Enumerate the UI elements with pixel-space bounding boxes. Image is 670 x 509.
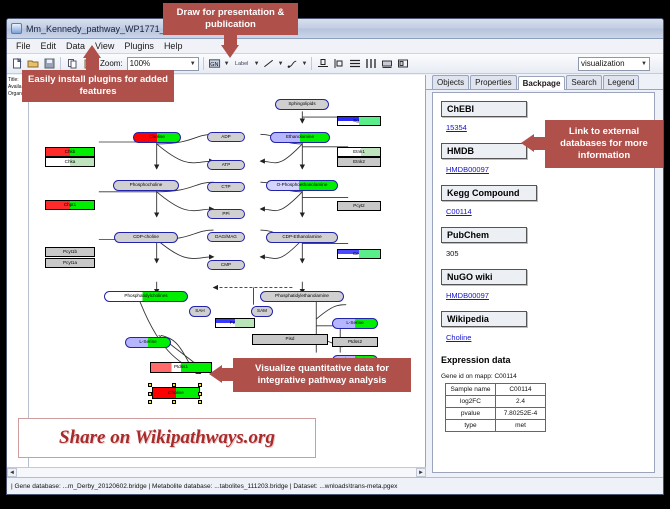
selection-handle-e[interactable] bbox=[198, 392, 202, 396]
pathway-node-pcyt1a[interactable]: Pcyt1a bbox=[45, 258, 95, 268]
scroll-left-icon[interactable]: ◄ bbox=[7, 468, 17, 477]
selection-handle-nw[interactable] bbox=[148, 383, 152, 387]
interaction-icon[interactable] bbox=[286, 57, 300, 71]
pathway-node-pemt-right-half bbox=[235, 318, 255, 328]
chevron-down-icon: ▼ bbox=[190, 61, 196, 67]
datanode-dropdown-icon[interactable]: ▼ bbox=[224, 61, 230, 67]
menu-help[interactable]: Help bbox=[159, 41, 188, 51]
table-row: pvalue 7.80252E-4 bbox=[446, 408, 546, 420]
chevron-down-icon-2: ▼ bbox=[641, 61, 647, 67]
datanode-icon[interactable]: GN bbox=[208, 57, 222, 71]
group-icon[interactable] bbox=[380, 57, 394, 71]
expr-key-type: type bbox=[446, 420, 496, 432]
pathway-node-pcyt1b[interactable]: Pcyt1b bbox=[45, 247, 95, 257]
node-label: Phosphatidylcholines bbox=[124, 294, 167, 299]
pathway-node-etnk1[interactable]: Etnk1 bbox=[337, 147, 381, 157]
interaction-dropdown-icon[interactable]: ▼ bbox=[302, 61, 308, 67]
pathway-node-pcyt2[interactable]: Pcyt2 bbox=[337, 201, 381, 211]
db-header-wikipedia: Wikipedia bbox=[441, 311, 527, 327]
db-link-hmdb[interactable]: HMDB00097 bbox=[446, 165, 489, 174]
scroll-right-icon[interactable]: ► bbox=[416, 468, 426, 477]
node-label: Phosphatidylethanolamine bbox=[275, 294, 329, 299]
ungroup-icon[interactable] bbox=[396, 57, 410, 71]
node-label: CDP-Ethanolamine bbox=[282, 235, 321, 240]
pathway-canvas[interactable]: Sphingolipids Choline Ethanolamine ADP A… bbox=[29, 75, 425, 477]
expr-value-type: met bbox=[496, 420, 546, 432]
db-header-chebi: ChEBI bbox=[441, 101, 527, 117]
pathway-node-sgpl1-right-half bbox=[359, 116, 381, 126]
pathway-node-adp[interactable]: ADP bbox=[207, 132, 245, 142]
node-label: Ptdss1 bbox=[174, 365, 188, 370]
pathway-node-phosphocholine[interactable]: Phosphocholine bbox=[113, 180, 179, 191]
node-label: SAM bbox=[257, 309, 267, 314]
pathway-node-pisd[interactable]: Pisd bbox=[252, 334, 328, 345]
pathway-node-l-serine-right[interactable]: L-Serine bbox=[332, 318, 378, 329]
callout-plugins-stem bbox=[86, 57, 99, 71]
node-label: ADP bbox=[221, 135, 230, 140]
zoom-label: Zoom: bbox=[100, 59, 123, 68]
callout-plugins: Easily install plugins for added feature… bbox=[22, 70, 174, 102]
node-label: DAG/MAG bbox=[215, 235, 237, 240]
pathway-info-column: Title: Availa Organ bbox=[7, 75, 29, 477]
visualization-combo[interactable]: visualization ▼ bbox=[578, 57, 650, 71]
line-icon[interactable] bbox=[262, 57, 276, 71]
gene-id-line: Gene id on mapp: C00114 bbox=[441, 373, 646, 380]
callout-draw-text: Draw for presentation & publication bbox=[169, 7, 292, 31]
callout-links: Link to external databases for more info… bbox=[545, 120, 663, 168]
node-label: Sphingolipids bbox=[288, 102, 315, 107]
selection-handle-sw[interactable] bbox=[148, 400, 152, 404]
node-label: Pcyt2 bbox=[353, 204, 365, 209]
pathway-node-l-serine-left[interactable]: L-Serine bbox=[125, 337, 171, 348]
pathway-node-chka[interactable]: Chka bbox=[45, 157, 95, 167]
callout-share-text: Share on Wikipathways.org bbox=[59, 427, 275, 449]
tab-objects[interactable]: Objects bbox=[432, 75, 469, 89]
db-link-chebi[interactable]: 15354 bbox=[446, 123, 467, 132]
node-label: PPi bbox=[222, 212, 229, 217]
pathway-node-ptdss2[interactable]: Ptdss2 bbox=[332, 337, 378, 347]
node-label: Pisd bbox=[286, 337, 295, 342]
db-value-pubchem: 305 bbox=[446, 249, 459, 258]
label-icon[interactable]: Label bbox=[232, 57, 252, 71]
expr-key-pvalue: pvalue bbox=[446, 408, 496, 420]
save-icon[interactable] bbox=[42, 57, 56, 71]
node-label: Chka bbox=[65, 160, 76, 165]
node-label: Etnk2 bbox=[353, 160, 365, 165]
pathway-node-phosphatidylethanolamine[interactable]: Phosphatidylethanolamine bbox=[260, 291, 344, 302]
callout-links-text: Link to external databases for more info… bbox=[551, 126, 657, 162]
selection-handle-w[interactable] bbox=[148, 392, 152, 396]
align-top-icon[interactable] bbox=[316, 57, 330, 71]
pathway-node-cept1-right-half bbox=[359, 249, 381, 259]
callout-share: Share on Wikipathways.org bbox=[18, 418, 316, 458]
screenshot-root: Mm_Kennedy_pathway_WP1771_45176.gpml Fil… bbox=[0, 0, 670, 509]
callout-visualize-arrow bbox=[209, 365, 222, 383]
toolbar-separator bbox=[60, 57, 61, 70]
label-dropdown-icon[interactable]: ▼ bbox=[254, 61, 260, 67]
align-left-icon[interactable] bbox=[332, 57, 346, 71]
pathway-node-cdp-choline[interactable]: CDP-choline bbox=[114, 232, 178, 243]
tab-legend[interactable]: Legend bbox=[603, 75, 640, 89]
expression-table: Sample name C00114 log2FC 2.4 pvalue 7.8… bbox=[445, 383, 546, 432]
expr-value-sample-name: C00114 bbox=[496, 384, 546, 396]
pathway-node-o-phosphoethanolamine[interactable]: O-Phosphoethanolamine bbox=[266, 180, 338, 191]
node-label: CMP bbox=[221, 263, 231, 268]
pathway-node-atp[interactable]: ATP bbox=[207, 160, 245, 170]
db-link-kegg[interactable]: C00114 bbox=[446, 207, 472, 216]
node-label: Choline bbox=[149, 135, 165, 140]
callout-visualize: Visualize quantitative data for integrat… bbox=[233, 358, 411, 392]
node-label: Chkb bbox=[65, 150, 76, 155]
zoom-combo[interactable]: 100% ▼ bbox=[127, 57, 199, 71]
db-header-nugo: NuGO wiki bbox=[441, 269, 527, 285]
menu-plugins[interactable]: Plugins bbox=[119, 41, 159, 51]
pathway-node-choline-selected[interactable]: Choline bbox=[152, 387, 200, 399]
zoom-value: 100% bbox=[130, 59, 150, 68]
table-row: type met bbox=[446, 420, 546, 432]
pathway-node-ppi[interactable]: PPi bbox=[207, 209, 245, 219]
pathway-node-sam[interactable]: SAM bbox=[251, 306, 273, 317]
pathway-node-ptdss1[interactable]: Ptdss1 bbox=[150, 362, 212, 373]
callout-plugins-arrow bbox=[83, 45, 101, 58]
node-label: ATP bbox=[222, 163, 231, 168]
expr-value-log2fc: 2.4 bbox=[496, 396, 546, 408]
side-panel-tabs: Objects Properties Backpage Search Legen… bbox=[426, 75, 663, 90]
db-link-nugo[interactable]: HMDB00097 bbox=[446, 291, 489, 300]
node-label: Chpt1 bbox=[64, 203, 76, 208]
copy-icon[interactable] bbox=[65, 57, 79, 71]
callout-links-arrow bbox=[521, 134, 534, 152]
status-bar: | Gene database: ...m_Derby_20120602.bri… bbox=[7, 477, 663, 494]
node-label: Choline bbox=[168, 391, 184, 396]
pathway-editor-pane[interactable]: Title: Availa Organ bbox=[7, 75, 426, 477]
open-icon[interactable] bbox=[26, 57, 40, 71]
selection-handle-n[interactable] bbox=[172, 383, 176, 387]
svg-text:GN: GN bbox=[210, 62, 218, 68]
distribute-icon[interactable] bbox=[364, 57, 378, 71]
tab-backpage[interactable]: Backpage bbox=[518, 76, 566, 90]
node-label: Pcyt1b bbox=[63, 250, 77, 255]
line-dropdown-icon[interactable]: ▼ bbox=[278, 61, 284, 67]
node-label: Pcyt1a bbox=[63, 261, 77, 266]
node-label: SAH bbox=[195, 309, 204, 314]
table-row: log2FC 2.4 bbox=[446, 396, 546, 408]
db-header-hmdb: HMDB bbox=[441, 143, 527, 159]
status-text: | Gene database: ...m_Derby_20120602.bri… bbox=[11, 483, 397, 490]
callout-draw-arrow bbox=[221, 45, 239, 58]
pathway-node-choline-top[interactable]: Choline bbox=[133, 132, 181, 143]
menu-edit[interactable]: Edit bbox=[36, 41, 62, 51]
canvas-horizontal-scrollbar[interactable]: ◄ ► bbox=[7, 467, 426, 477]
stack-icon[interactable] bbox=[348, 57, 362, 71]
pathway-node-etnk2[interactable]: Etnk2 bbox=[337, 157, 381, 167]
db-header-pubchem: PubChem bbox=[441, 227, 527, 243]
node-label: L-Serine bbox=[139, 340, 156, 345]
menu-file[interactable]: File bbox=[11, 41, 36, 51]
db-header-kegg: Kegg Compound bbox=[441, 185, 537, 201]
menu-bar: File Edit Data View Plugins Help bbox=[7, 39, 663, 54]
pathway-node-chkb[interactable]: Chkb bbox=[45, 147, 95, 157]
callout-draw: Draw for presentation & publication bbox=[163, 3, 298, 35]
tab-search[interactable]: Search bbox=[566, 75, 601, 89]
pathway-node-ethanolamine-top[interactable]: Ethanolamine bbox=[270, 132, 330, 143]
pathway-node-sah[interactable]: SAH bbox=[189, 306, 211, 317]
toolbar-separator-3 bbox=[311, 57, 312, 70]
node-label: Ptdss2 bbox=[348, 340, 362, 345]
expr-key-sample-name: Sample name bbox=[446, 384, 496, 396]
db-link-wikipedia[interactable]: Choline bbox=[446, 333, 471, 342]
tab-properties[interactable]: Properties bbox=[470, 75, 516, 89]
new-icon[interactable] bbox=[10, 57, 24, 71]
selection-handle-s[interactable] bbox=[172, 400, 176, 404]
pathway-node-dag-mag[interactable]: DAG/MAG bbox=[207, 232, 245, 242]
node-label: CDP-choline bbox=[133, 235, 159, 240]
node-label: O-Phosphoethanolamine bbox=[277, 183, 328, 188]
pathway-node-ctp[interactable]: CTP bbox=[207, 182, 245, 192]
expression-data-heading: Expression data bbox=[441, 355, 646, 365]
app-icon bbox=[11, 23, 22, 34]
pathway-node-cdp-ethanolamine[interactable]: CDP-Ethanolamine bbox=[266, 232, 338, 243]
node-label: Ethanolamine bbox=[286, 135, 314, 140]
table-row: Sample name C00114 bbox=[446, 384, 546, 396]
node-label: Etnk1 bbox=[353, 150, 365, 155]
expr-key-log2fc: log2FC bbox=[446, 396, 496, 408]
toolbar-separator-2 bbox=[203, 57, 204, 70]
pathway-node-sphingolipids[interactable]: Sphingolipids bbox=[275, 99, 329, 110]
title-bar: Mm_Kennedy_pathway_WP1771_45176.gpml bbox=[7, 19, 663, 39]
node-label: L-Serine bbox=[346, 321, 363, 326]
callout-visualize-text: Visualize quantitative data for integrat… bbox=[239, 363, 405, 387]
selection-handle-se[interactable] bbox=[198, 400, 202, 404]
pathway-node-phosphatidylcholines[interactable]: Phosphatidylcholines bbox=[104, 291, 188, 302]
expr-value-pvalue: 7.80252E-4 bbox=[496, 408, 546, 420]
visualization-value: visualization bbox=[581, 59, 625, 68]
callout-plugins-text: Easily install plugins for added feature… bbox=[28, 74, 168, 98]
pathway-node-cmp[interactable]: CMP bbox=[207, 260, 245, 270]
selection-handle-ne[interactable] bbox=[198, 383, 202, 387]
node-label: CTP bbox=[221, 185, 230, 190]
scrollbar-track[interactable] bbox=[17, 468, 416, 477]
pathway-node-chpt1[interactable]: Chpt1 bbox=[45, 200, 95, 210]
node-label: Phosphocholine bbox=[130, 183, 163, 188]
